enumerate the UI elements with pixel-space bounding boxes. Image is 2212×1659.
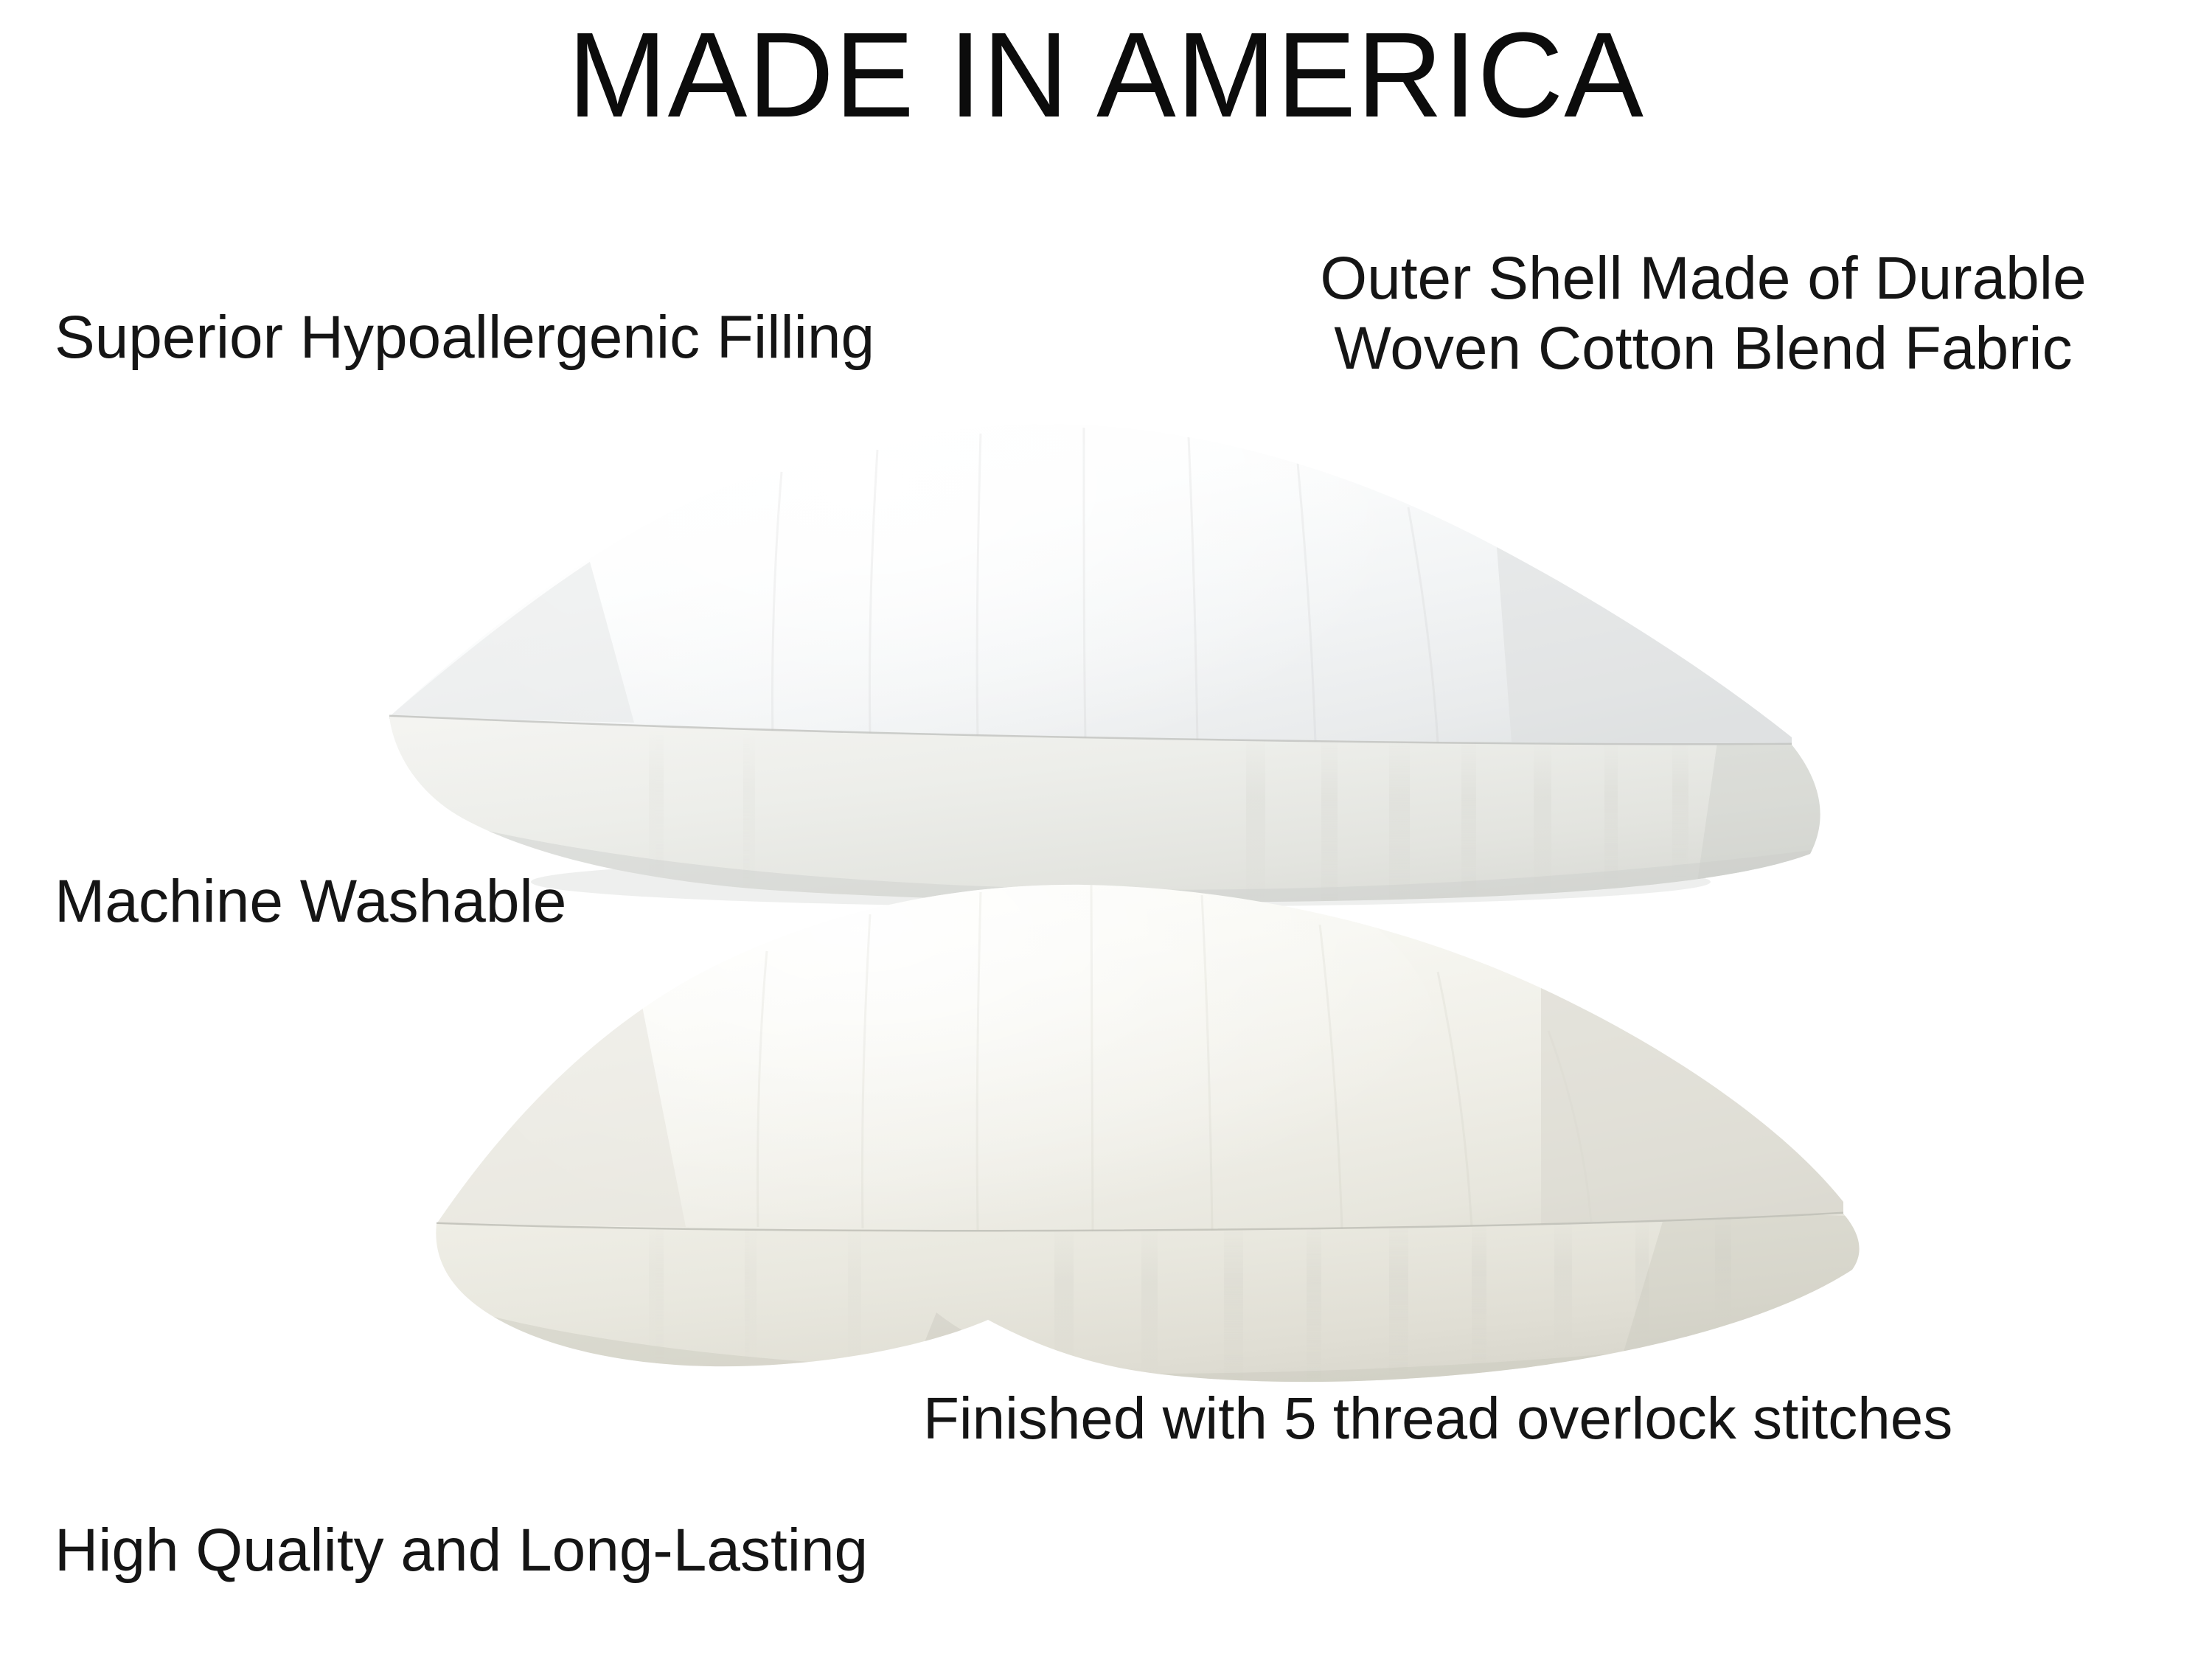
callout-outer-shell-line2: Woven Cotton Blend Fabric <box>1246 313 2160 383</box>
bottom-pillow <box>428 811 1865 1416</box>
product-feature-graphic: MADE IN AMERICA Superior Hypoallergenic … <box>0 0 2212 1659</box>
callout-machine-washable: Machine Washable <box>55 866 566 936</box>
callout-high-quality-long-lasting: High Quality and Long-Lasting <box>55 1515 868 1585</box>
top-pillow <box>383 339 1836 929</box>
page-title: MADE IN AMERICA <box>17 13 2196 136</box>
callout-superior-hypoallergenic-filling: Superior Hypoallergenic Filling <box>55 302 874 372</box>
callout-outer-shell-fabric: Outer Shell Made of Durable Woven Cotton… <box>1246 243 2160 383</box>
callout-outer-shell-line1: Outer Shell Made of Durable <box>1246 243 2160 313</box>
callout-overlock-stitches: Finished with 5 thread overlock stitches <box>923 1385 1952 1453</box>
